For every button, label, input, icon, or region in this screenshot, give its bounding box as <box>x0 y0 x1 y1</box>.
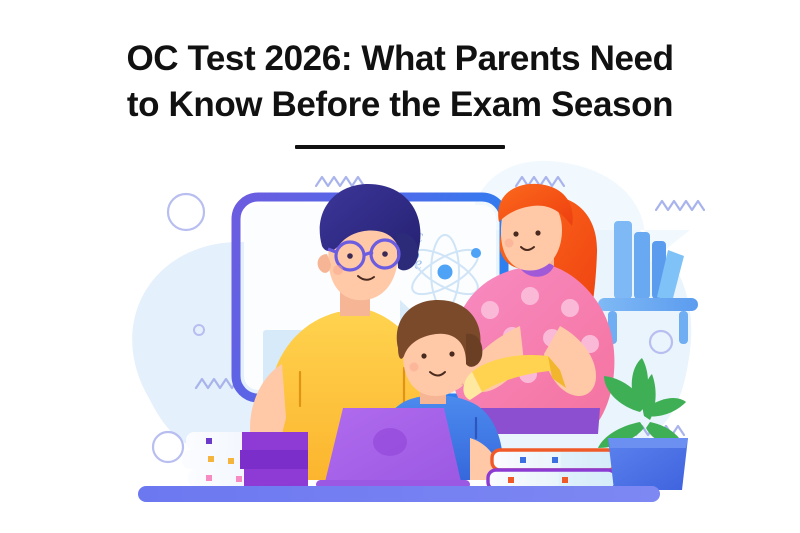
desk-surface <box>138 486 660 502</box>
page-title-line-1: OC Test 2026: What Parents Need <box>126 39 673 78</box>
plant-pot-rim <box>608 438 688 448</box>
book-stack-left <box>182 432 308 487</box>
book-stack-right <box>488 450 616 490</box>
shelf-book-1 <box>614 221 632 299</box>
circle-outline-1 <box>168 194 204 230</box>
book-left-3-dot-2 <box>236 476 242 482</box>
zigzag-4 <box>656 201 704 210</box>
father-eye-right <box>382 251 388 257</box>
page-title-line-2: to Know Before the Exam Season <box>60 82 740 128</box>
book-right-2-dot-2 <box>562 477 568 483</box>
desk <box>138 486 660 502</box>
book-left-2-spine <box>240 450 308 469</box>
article-header: OC Test 2026: What Parents Need to Know … <box>0 36 800 149</box>
book-left-3-spine <box>244 469 308 487</box>
book-right-1-dot-1 <box>520 457 526 463</box>
child-eye-left <box>421 353 426 358</box>
book-right-1-dot-2 <box>552 457 558 463</box>
mother-blush <box>505 239 514 248</box>
child-eye-right <box>449 351 454 356</box>
book-left-1-spine <box>242 432 308 450</box>
book-left-2-dot-1 <box>208 456 214 462</box>
title-divider <box>295 145 505 149</box>
zigzag-2 <box>316 177 364 186</box>
shelf-book-2 <box>634 232 650 299</box>
shelf-plank <box>598 298 698 311</box>
family-studying-illustration: a + b = c c + d = e <box>0 150 800 533</box>
book-left-2-dot-2 <box>228 458 234 464</box>
book-left-3-dot-1 <box>206 475 212 481</box>
shelf-leg-right <box>679 311 688 344</box>
laptop-logo <box>373 428 407 456</box>
father-blush <box>333 265 343 275</box>
mother-eye-left <box>513 231 518 236</box>
page-title: OC Test 2026: What Parents Need to Know … <box>0 36 800 128</box>
mother-eye-right <box>535 230 540 235</box>
father-eye-left <box>347 253 353 259</box>
book-right-2-dot-1 <box>508 477 514 483</box>
child-blush <box>410 363 419 372</box>
page-root: OC Test 2026: What Parents Need to Know … <box>0 0 800 533</box>
book-left-1-dot <box>206 438 212 444</box>
circle-outline-2 <box>153 432 183 462</box>
